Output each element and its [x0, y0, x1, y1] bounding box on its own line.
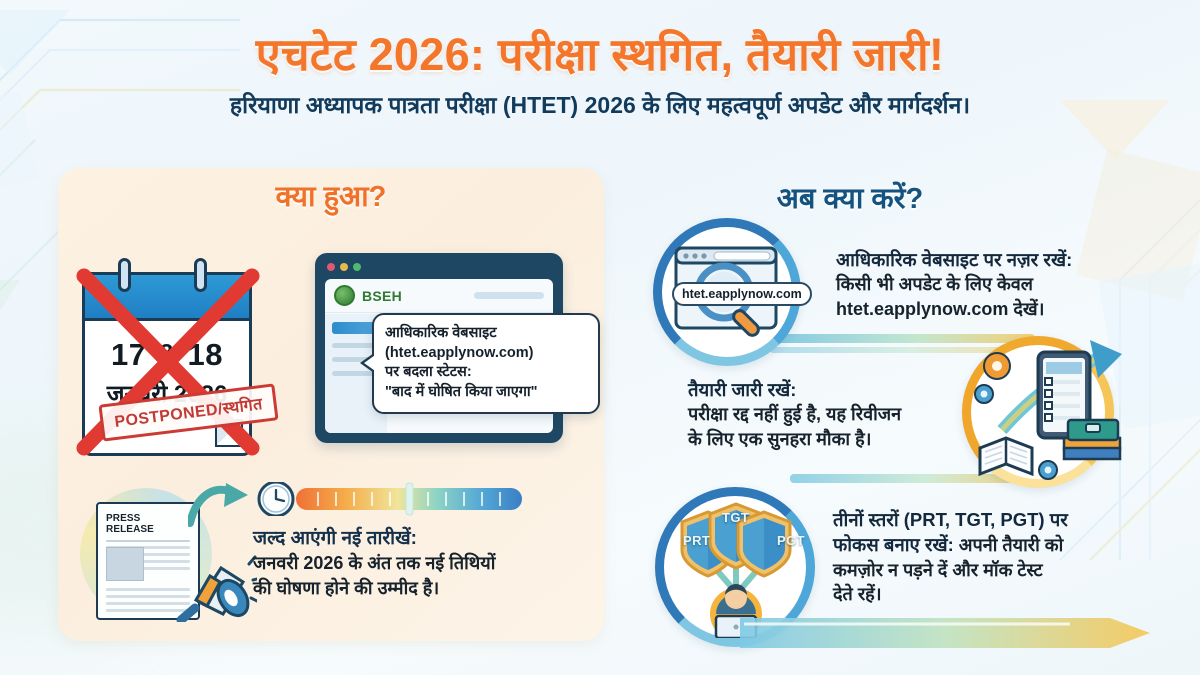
shield-label-prt: PRT — [683, 533, 710, 548]
three-levels-text: तीनों स्तरों (PRT, TGT, PGT) पर फोकस बना… — [833, 508, 1168, 606]
page-subtitle: हरियाणा अध्यापक पात्रता परीक्षा (HTET) 2… — [0, 91, 1200, 120]
item1-heading: आधिकारिक वेबसाइट पर नज़र रखें: — [836, 248, 1166, 272]
infographic-canvas: एचटेट 2026: परीक्षा स्थगित, तैयारी जारी!… — [0, 0, 1200, 675]
website-watch-text: आधिकारिक वेबसाइट पर नज़र रखें: किसी भी अ… — [836, 248, 1166, 321]
divider — [106, 540, 190, 542]
item3-body-line2: कमज़ोर न पड़ने दें और मॉक टेस्ट — [833, 558, 1168, 582]
item3-heading-line2: फोकस बनाए रखें: — [833, 534, 954, 555]
bseh-site-name: BSEH — [362, 288, 402, 304]
study-books-tablet-icon — [972, 338, 1132, 486]
press-release-photo — [106, 547, 144, 581]
bseh-emblem-icon — [334, 285, 355, 306]
header: एचटेट 2026: परीक्षा स्थगित, तैयारी जारी!… — [0, 30, 1200, 120]
browser-minimize-dot[interactable] — [340, 263, 348, 271]
new-dates-body-line1: जनवरी 2026 के अंत तक नई तिथियों — [253, 551, 588, 575]
browser-close-dot[interactable] — [327, 263, 335, 271]
bubble-line-1: आधिकारिक वेबसाइट — [385, 324, 587, 344]
status-speech-bubble: आधिकारिक वेबसाइट (htet.eapplynow.com) पर… — [372, 313, 600, 414]
new-dates-heading: जल्द आएंगी नई तारीखें: — [253, 524, 588, 550]
item2-heading: तैयारी जारी रखें: — [688, 378, 988, 402]
item2-body-line1: परीक्षा रद्द नहीं हुई है, यह रिवीजन — [688, 402, 988, 426]
item1-body-line1: किसी भी अपडेट के लिए केवल — [836, 272, 1166, 296]
press-release-text-block: जल्द आएंगी नई तारीखें: जनवरी 2026 के अंत… — [253, 524, 588, 601]
left-panel-heading: क्या हुआ? — [58, 176, 604, 215]
keep-preparing-text: तैयारी जारी रखें: परीक्षा रद्द नहीं हुई … — [688, 378, 988, 451]
press-release-title: PRESS RELEASE — [106, 513, 190, 535]
bubble-line-4: "बाद में घोषित किया जाएगा" — [385, 383, 587, 403]
url-pill[interactable]: htet.eapplynow.com — [672, 282, 812, 306]
browser-titlebar — [321, 259, 557, 275]
item3-body-line3: देते रहें। — [833, 582, 1168, 606]
bubble-line-3: पर बदला स्टेटस: — [385, 363, 587, 383]
browser-url-bar[interactable] — [474, 292, 544, 299]
bottom-arrow-ribbon — [740, 612, 1155, 654]
item3-body-inline: अपनी तैयारी को — [954, 535, 1064, 555]
item1-body-line2: htet.eapplynow.com देखें। — [836, 297, 1166, 321]
shield-label-tgt: TGT — [722, 510, 749, 525]
right-panel-heading: अब क्या करें? — [640, 178, 1060, 217]
bubble-line-2: (htet.eapplynow.com) — [385, 344, 587, 364]
page-title: एचटेट 2026: परीक्षा स्थगित, तैयारी जारी! — [0, 30, 1200, 80]
megaphone-icon — [165, 548, 257, 622]
curved-arrow-icon — [188, 483, 250, 527]
item2-body-line2: के लिए एक सुनहरा मौका है। — [688, 427, 988, 451]
item3-heading-line1: तीनों स्तरों (PRT, TGT, PGT) पर — [833, 508, 1168, 532]
shield-label-pgt: PGT — [777, 533, 805, 548]
browser-maximize-dot[interactable] — [353, 263, 361, 271]
new-dates-body-line2: की घोषणा होने की उम्मीद है। — [253, 576, 588, 600]
bubble-tail-inner — [364, 353, 378, 373]
timeline-slider-icon[interactable] — [256, 482, 524, 516]
